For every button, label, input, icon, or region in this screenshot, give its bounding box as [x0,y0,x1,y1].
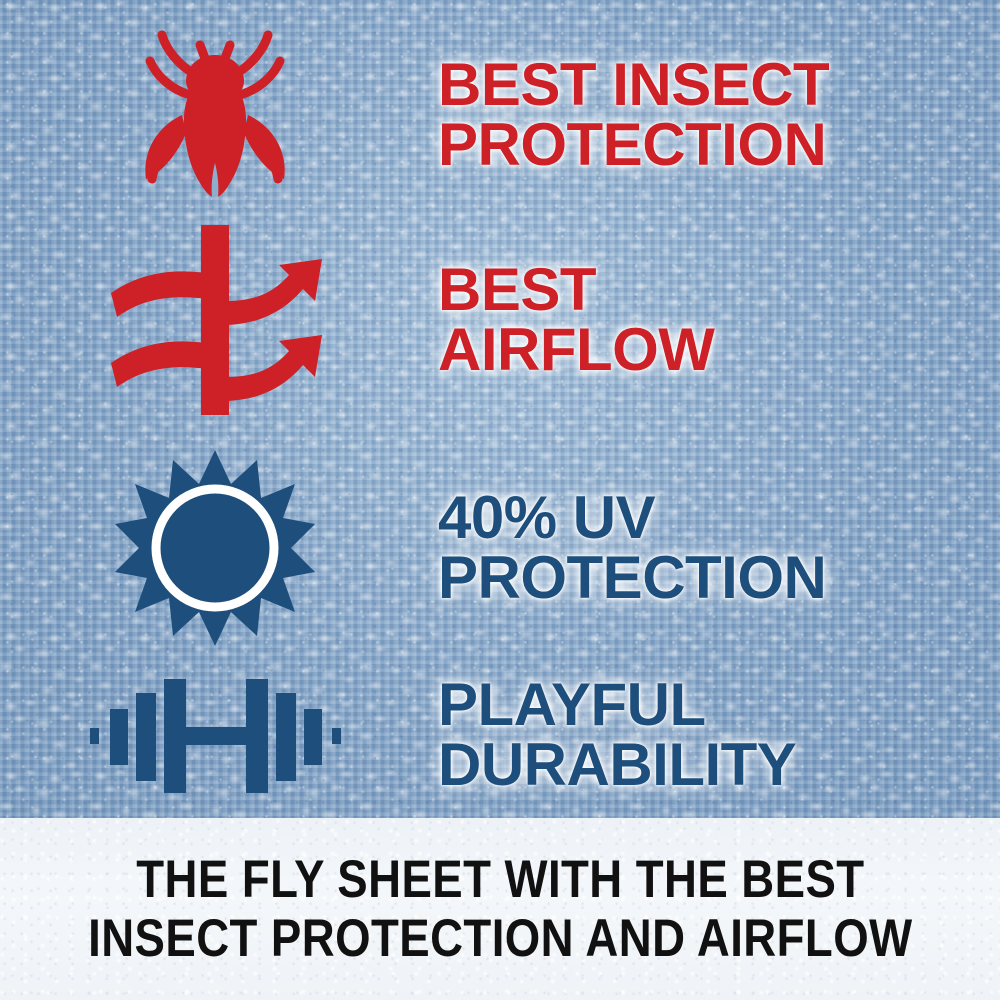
fly-icon [120,23,310,208]
dumbbell-icon [88,673,343,798]
feature-label-uv-protection: 40% UV PROTECTION [438,488,1000,608]
product-feature-poster: BEST INSECT PROTECTION [0,0,1000,1000]
feature-row-insect-protection: BEST INSECT PROTECTION [0,20,1000,210]
feature-label-insect-protection: BEST INSECT PROTECTION [438,55,1000,175]
icon-cell-durability [0,673,430,798]
caption-bar: THE FLY SHEET WITH THE BEST INSECT PROTE… [0,818,1000,1000]
airflow-arrows-icon [103,225,328,415]
caption-line-2: INSECT PROTECTION AND AIRFLOW [88,909,912,968]
text-cell-airflow: BEST AIRFLOW [430,260,1000,380]
feature-label-airflow: BEST AIRFLOW [438,260,1000,380]
text-cell-insect-protection: BEST INSECT PROTECTION [430,55,1000,175]
feature-list: BEST INSECT PROTECTION [0,0,1000,818]
feature-row-airflow: BEST AIRFLOW [0,222,1000,417]
icon-cell-airflow [0,225,430,415]
caption-line-1: THE FLY SHEET WITH THE BEST [136,850,864,909]
feature-row-durability: PLAYFUL DURABILITY [0,655,1000,815]
sun-uv-icon [115,448,315,648]
icon-cell-insect-protection [0,23,430,208]
feature-label-durability: PLAYFUL DURABILITY [438,675,1000,795]
feature-row-uv-protection: 40% UV PROTECTION [0,440,1000,655]
text-cell-durability: PLAYFUL DURABILITY [430,675,1000,795]
text-cell-uv-protection: 40% UV PROTECTION [430,488,1000,608]
icon-cell-uv-protection [0,448,430,648]
